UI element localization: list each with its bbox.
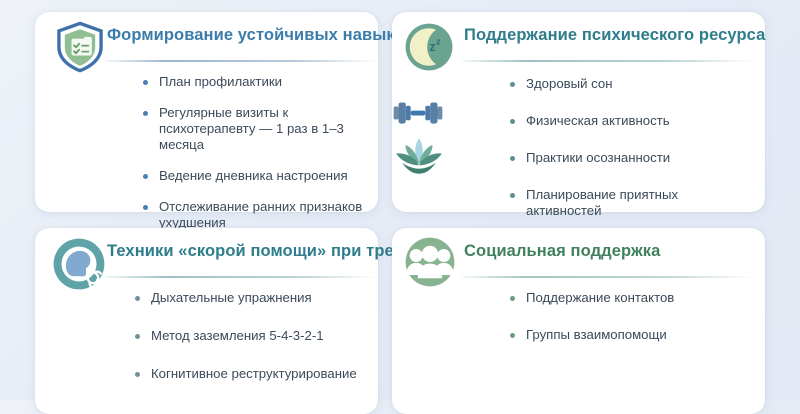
list-item: Регулярные визиты к психотерапевту — 1 р…: [143, 105, 364, 153]
svg-text:z: z: [436, 37, 441, 47]
title-divider: [462, 276, 754, 278]
card-title: Поддержание психического ресурса: [464, 26, 765, 45]
card-header: z z Поддержание психического ресурса: [392, 12, 765, 68]
card-inner: z z Поддержание психического ресурса: [392, 12, 765, 212]
card-title: Техники «скорой помощи» при тревоге: [107, 242, 430, 261]
head-breathing-icon: [51, 236, 107, 292]
list-item: Ведение дневника настроения: [143, 168, 364, 184]
people-group-icon: [404, 236, 456, 288]
card-inner: Техники «скорой помощи» при тревоге Дыха…: [35, 228, 378, 414]
svg-text:z: z: [429, 40, 435, 54]
card-title: Социальная поддержка: [464, 242, 660, 261]
bullet-list: Здоровый сон Физическая активность Практ…: [510, 76, 751, 240]
bullet-list: Поддержание контактов Группы взаимопомощ…: [510, 290, 751, 364]
card-podderzhanie-psikhicheskogo-resursa[interactable]: z z Поддержание психического ресурса: [392, 12, 765, 212]
moon-sleep-icon: z z: [404, 22, 454, 72]
list-item: Физическая активность: [510, 113, 751, 129]
list-item: Дыхательные упражнения: [135, 290, 364, 306]
bullet-list: План профилактики Регулярные визиты к пс…: [143, 74, 364, 246]
lotus-icon: [392, 134, 446, 178]
card-header: Социальная поддержка: [392, 228, 765, 284]
list-item: Здоровый сон: [510, 76, 751, 92]
list-item: Практики осознанности: [510, 150, 751, 166]
title-divider: [462, 60, 754, 62]
list-item: Отслеживание ранних признаков ухудшения: [143, 199, 364, 231]
list-item: Группы взаимопомощи: [510, 327, 751, 343]
card-inner: Социальная поддержка Поддержание контакт…: [392, 228, 765, 414]
title-divider: [105, 60, 377, 62]
card-header: Техники «скорой помощи» при тревоге: [35, 228, 378, 284]
card-inner: Формирование устойчивых навыков План про…: [35, 12, 378, 212]
list-item: План профилактики: [143, 74, 364, 90]
title-divider: [105, 276, 377, 278]
card-header: Формирование устойчивых навыков: [35, 12, 378, 68]
shield-checklist-icon: [53, 20, 107, 74]
card-title: Формирование устойчивых навыков: [107, 26, 415, 45]
card-sotsialnaya-podderzhka[interactable]: Социальная поддержка Поддержание контакт…: [392, 228, 765, 414]
infographic-board: Формирование устойчивых навыков План про…: [0, 0, 800, 400]
list-item: Метод заземления 5-4-3-2-1: [135, 328, 364, 344]
card-formirovanie-ustoychivykh-navykov[interactable]: Формирование устойчивых навыков План про…: [35, 12, 378, 212]
bullet-list: Дыхательные упражнения Метод заземления …: [135, 290, 364, 404]
dumbbell-icon: [392, 98, 444, 128]
list-item: Планирование приятных активностей: [510, 187, 751, 219]
card-tekhniki-skoroy-pomoshchi[interactable]: Техники «скорой помощи» при тревоге Дыха…: [35, 228, 378, 414]
list-item: Поддержание контактов: [510, 290, 751, 306]
list-item: Когнитивное реструктурирование: [135, 366, 364, 382]
